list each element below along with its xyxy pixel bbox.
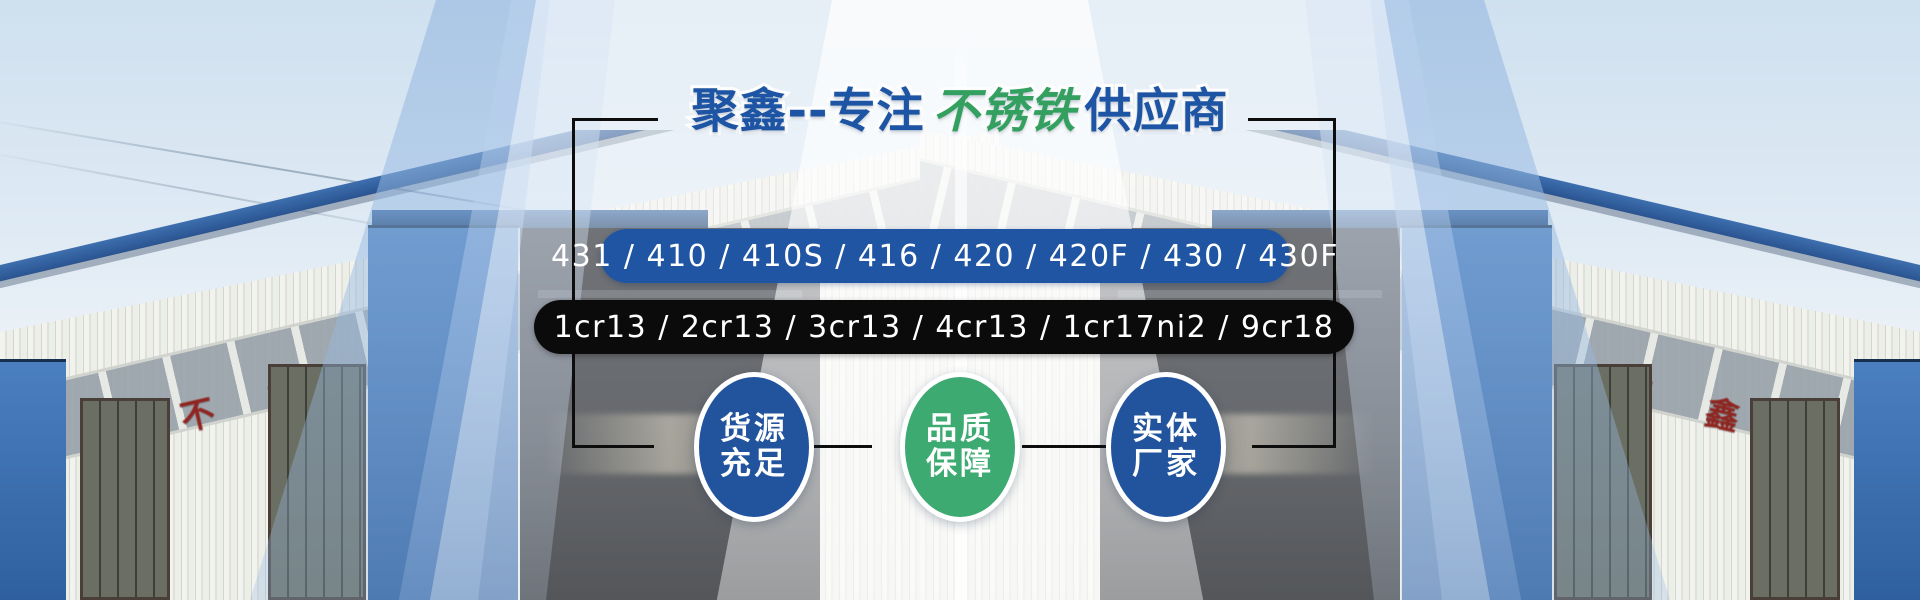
badge-quality-line1: 品质	[926, 412, 994, 447]
promo-banner: 鑫 不 锈 聚 锈 不 鑫 聚	[0, 0, 1920, 600]
badge-quality-line2: 保障	[926, 447, 994, 482]
badge-supply-line2: 充足	[720, 447, 788, 482]
badge-quality: 品质 保障	[900, 372, 1020, 522]
badge-factory-line1: 实体	[1132, 412, 1200, 447]
badge-factory: 实体 厂家	[1106, 372, 1226, 522]
headline-focus: 专注	[829, 84, 925, 139]
badge-factory-line2: 厂家	[1132, 447, 1200, 482]
badge-supply-line1: 货源	[720, 412, 788, 447]
badge-supply: 货源 充足	[694, 372, 814, 522]
grade-row-blue: 431 / 410 / 410S / 416 / 420 / 420F / 43…	[600, 229, 1290, 283]
badge-group: 货源 充足 品质 保障 实体 厂家	[0, 372, 1920, 522]
headline: 聚鑫--专注不锈铁供应商	[0, 88, 1920, 135]
headline-brand: 聚鑫	[691, 84, 787, 139]
headline-suffix: 供应商	[1085, 84, 1229, 139]
headline-highlight: 不锈铁	[925, 84, 1085, 139]
banner-content: 聚鑫--专注不锈铁供应商 431 / 410 / 410S / 416 / 42…	[0, 0, 1920, 600]
headline-dash: --	[787, 84, 828, 139]
grade-row-black: 1cr13 / 2cr13 / 3cr13 / 4cr13 / 1cr17ni2…	[534, 300, 1354, 354]
